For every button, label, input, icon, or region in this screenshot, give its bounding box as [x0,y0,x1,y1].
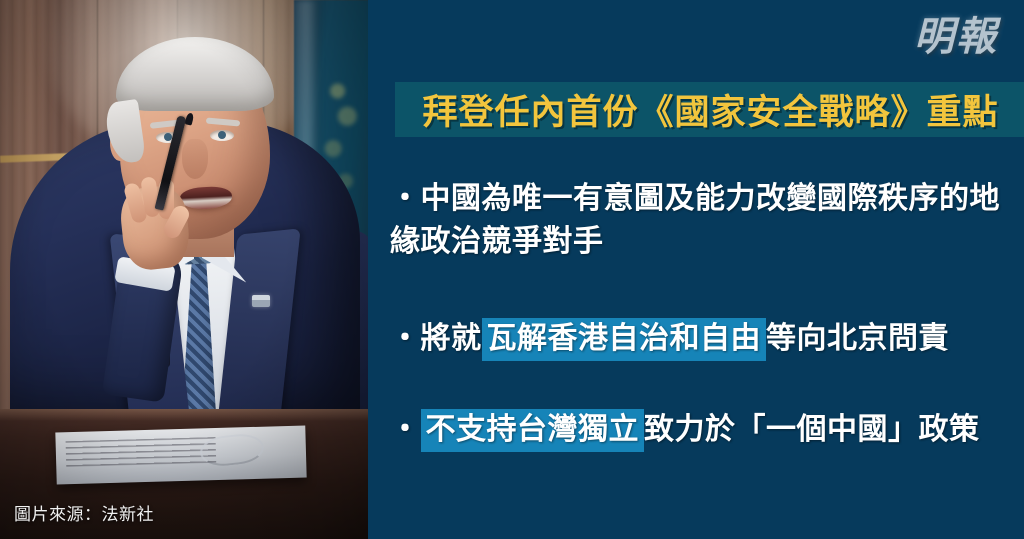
table-edge-highlight [0,409,368,421]
highlighted-phrase: 不支持台灣獨立 [421,409,645,452]
stack-of-papers [55,426,306,485]
bullet-marker: ・ [390,178,421,221]
page-title: 拜登任內首份《國家安全戰略》重點 [396,84,1024,135]
bullet-text: 致力於「一個中國」政策 [644,412,980,447]
bullet-text: 中國為唯一有意圖及能力改變國際秩序的地緣政治競爭對手 [390,181,1000,259]
bullet-text: 將就 [421,321,482,356]
news-photo: 圖片來源：法新社 [0,0,368,539]
highlighted-phrase: 瓦解香港自治和自由 [482,318,767,361]
lapel-flag-pin [252,295,270,307]
list-item: ・將就瓦解香港自治和自由等向北京問責 [390,318,1024,361]
bullet-marker: ・ [390,409,421,452]
bullet-text: 等向北京問責 [766,321,949,356]
mingpao-logo: 明報 [907,11,1005,63]
infographic-card: 圖片來源：法新社 明報 拜登任內首份《國家安全戰略》重點 ・中國為唯一有意圖及能… [0,0,1024,539]
figure-nose [182,139,208,179]
bullet-marker: ・ [390,318,421,361]
list-item: ・不支持台灣獨立致力於「一個中國」政策 [390,409,1024,452]
figure-pupil-right [218,131,226,139]
photo-credit: 圖片來源：法新社 [14,500,154,525]
text-panel: 明報 拜登任內首份《國家安全戰略》重點 ・中國為唯一有意圖及能力改變國際秩序的地… [368,0,1024,539]
printed-text-lines [66,437,217,469]
list-item: ・中國為唯一有意圖及能力改變國際秩序的地緣政治競爭對手 [390,178,1012,263]
